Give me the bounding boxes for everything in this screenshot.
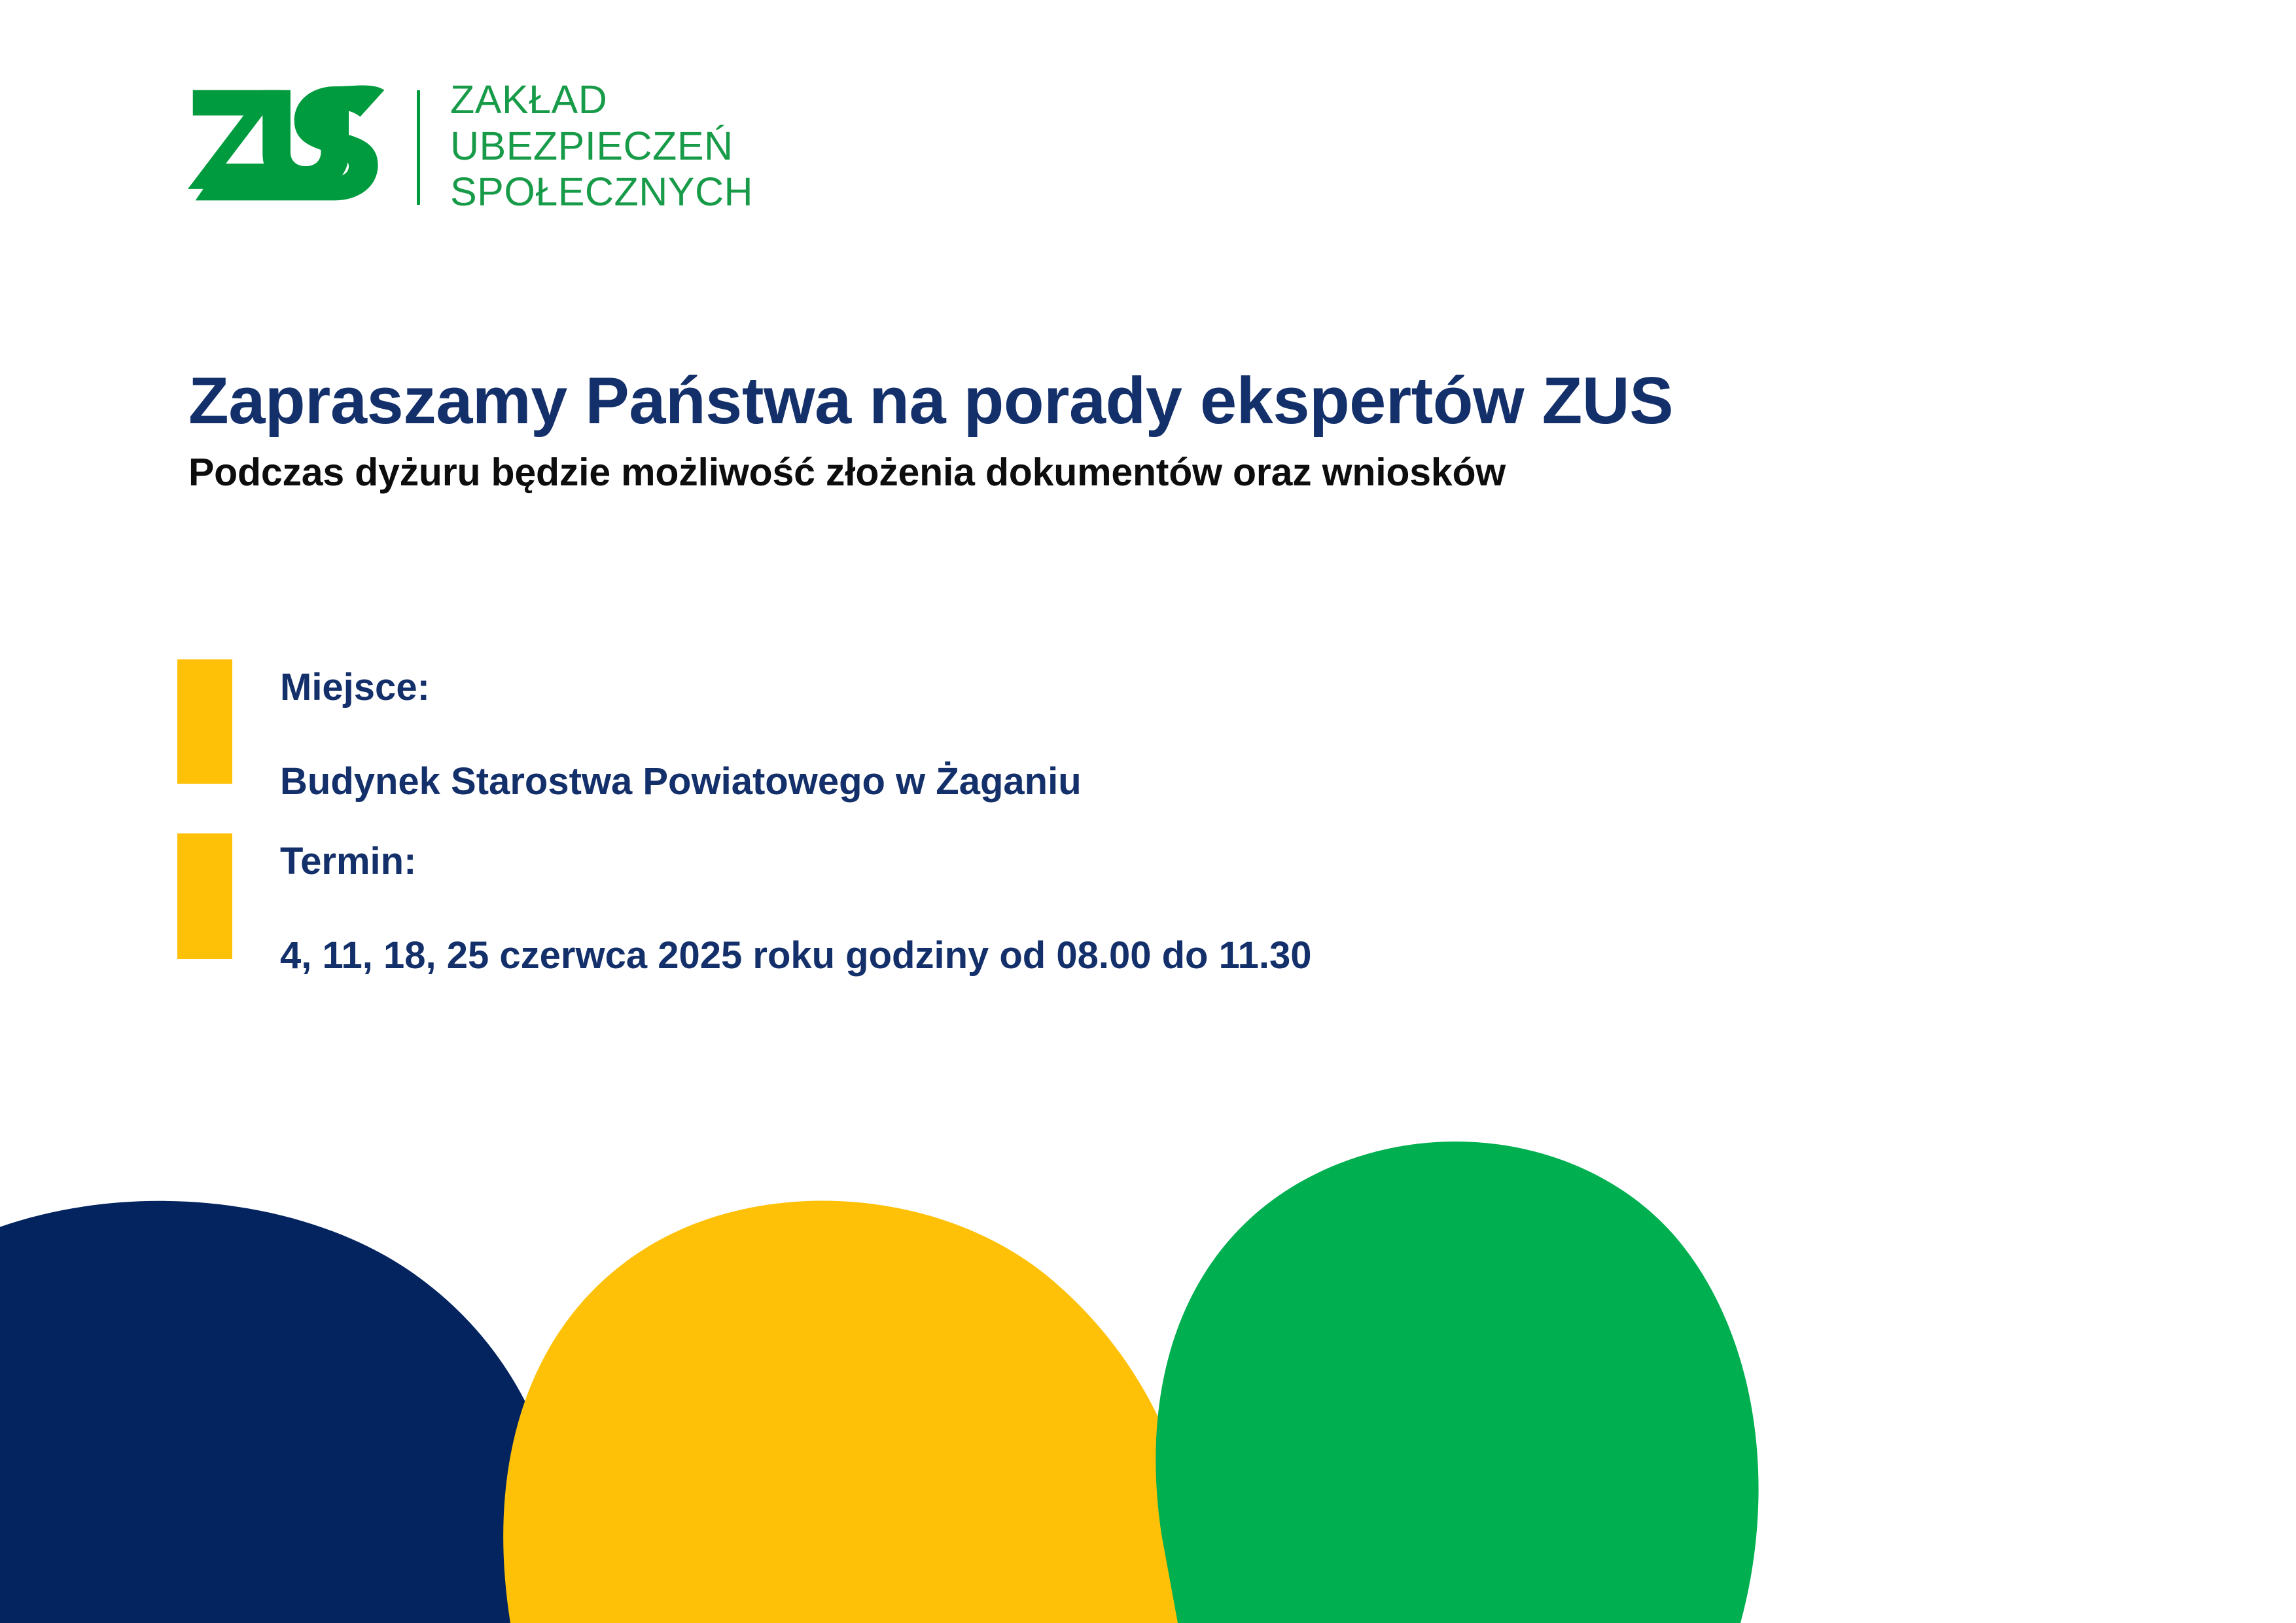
logo-divider: [417, 90, 420, 205]
logo-word-line-1: ZAKŁAD: [450, 77, 753, 122]
date-value: 4, 11, 18, 25 czerwca 2025 roku godziny …: [280, 881, 1312, 975]
info-row-date: Termin: 4, 11, 18, 25 czerwca 2025 roku …: [177, 833, 1312, 975]
accent-bar-date: [177, 833, 232, 959]
place-value: Budynek Starostwa Powiatowego w Żaganiu: [280, 707, 1082, 801]
logo-wordmark: ZAKŁAD UBEZPIECZEŃ SPOŁECZNYCH: [450, 77, 753, 215]
page-title: Zapraszamy Państwa na porady ekspertów Z…: [188, 366, 1673, 436]
info-row-place: Miejsce: Budynek Starostwa Powiatowego w…: [177, 659, 1082, 801]
green-blob-shape: [1156, 1142, 1758, 1623]
logo-word-line-3: SPOŁECZNYCH: [450, 169, 753, 215]
zus-logo-icon: [188, 80, 391, 211]
yellow-blob-shape: [503, 1200, 1204, 1623]
navy-blob-shape: [0, 1201, 570, 1623]
decorative-blobs: [0, 0, 2296, 1623]
page-subtitle: Podczas dyżuru będzie możliwość złożenia…: [188, 451, 1506, 494]
info-text-date: Termin: 4, 11, 18, 25 czerwca 2025 roku …: [280, 833, 1312, 975]
place-label: Miejsce:: [280, 659, 1082, 707]
accent-bar-place: [177, 659, 232, 784]
info-text-place: Miejsce: Budynek Starostwa Powiatowego w…: [280, 659, 1082, 801]
logo-word-line-2: UBEZPIECZEŃ: [450, 124, 753, 169]
poster-canvas: ZAKŁAD UBEZPIECZEŃ SPOŁECZNYCH Zapraszam…: [0, 0, 2296, 1623]
date-label: Termin:: [280, 833, 1312, 881]
zus-logo: ZAKŁAD UBEZPIECZEŃ SPOŁECZNYCH: [188, 77, 753, 215]
